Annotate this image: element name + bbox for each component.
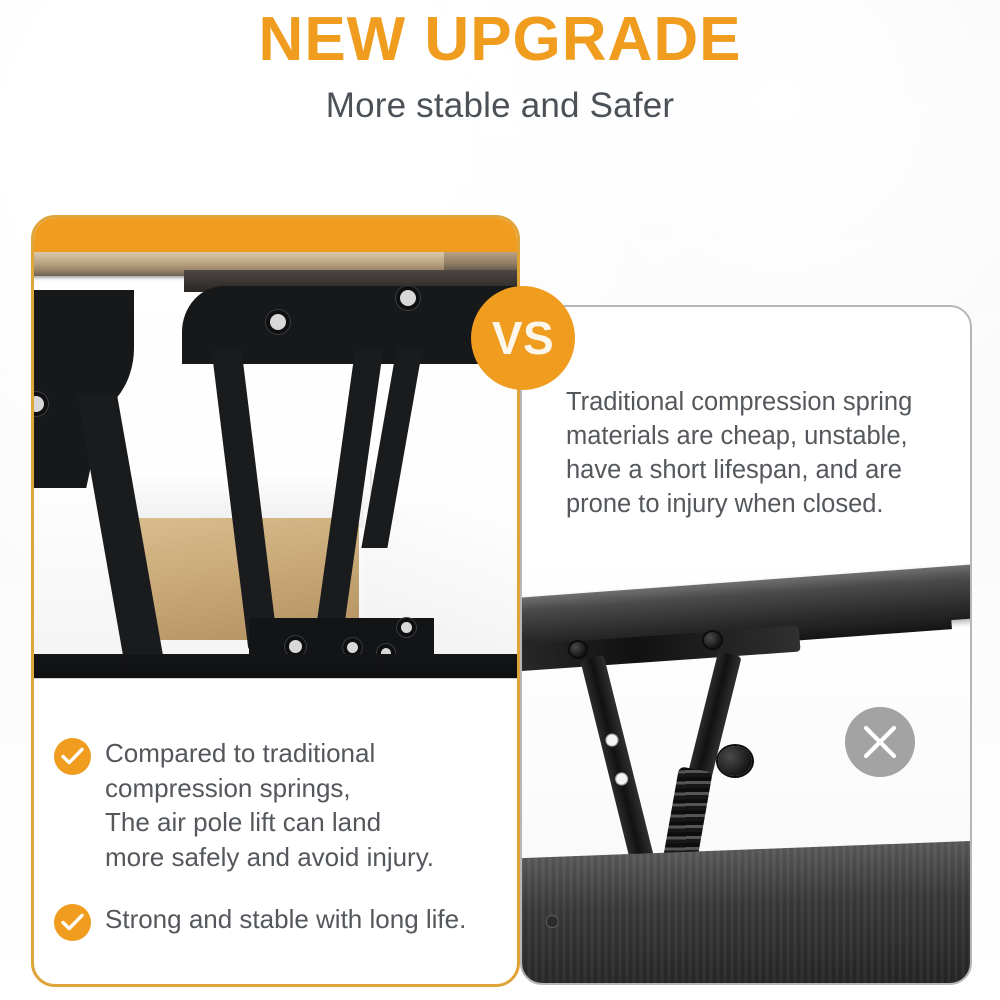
screw-icon	[289, 640, 302, 653]
vs-badge-label: VS	[492, 315, 554, 361]
bolt-hole	[604, 732, 620, 748]
screw-icon	[270, 314, 286, 330]
page-title: NEW UPGRADE	[0, 0, 1000, 72]
list-item: Compared to traditional compression spri…	[54, 736, 491, 874]
list-item-label: Compared to traditional compression spri…	[105, 736, 434, 874]
wood-plank-bottom	[522, 839, 970, 985]
benefit-list: Compared to traditional compression spri…	[34, 694, 517, 969]
photo-accent-band	[34, 218, 517, 254]
pivot-bolt-center	[718, 746, 752, 776]
traditional-description: Traditional compression spring materials…	[522, 307, 970, 522]
bolt-hole	[614, 771, 630, 787]
photo-bottom-edge	[34, 654, 517, 694]
screw-icon	[400, 290, 416, 306]
list-item-label: Strong and stable with long life.	[105, 902, 466, 937]
comparison-card-upgraded: Compared to traditional compression spri…	[31, 215, 520, 987]
status-badge-negative	[845, 707, 915, 777]
comparison-card-traditional: Traditional compression spring materials…	[520, 305, 972, 985]
screw-icon	[401, 622, 412, 633]
page-subtitle: More stable and Safer	[0, 72, 1000, 126]
vs-badge: VS	[471, 286, 575, 390]
wooden-tabletop-edge-right	[444, 252, 517, 272]
bolt-hole	[546, 915, 559, 928]
upgraded-mechanism-photo	[34, 218, 517, 694]
list-item: Strong and stable with long life.	[54, 902, 491, 941]
pivot-bolt	[704, 632, 721, 648]
screw-icon	[347, 642, 358, 653]
check-circle-icon	[54, 904, 91, 941]
check-circle-icon	[54, 738, 91, 775]
header: NEW UPGRADE More stable and Safer	[0, 0, 1000, 126]
x-mark-icon	[862, 724, 898, 760]
pivot-bolt	[570, 642, 586, 657]
